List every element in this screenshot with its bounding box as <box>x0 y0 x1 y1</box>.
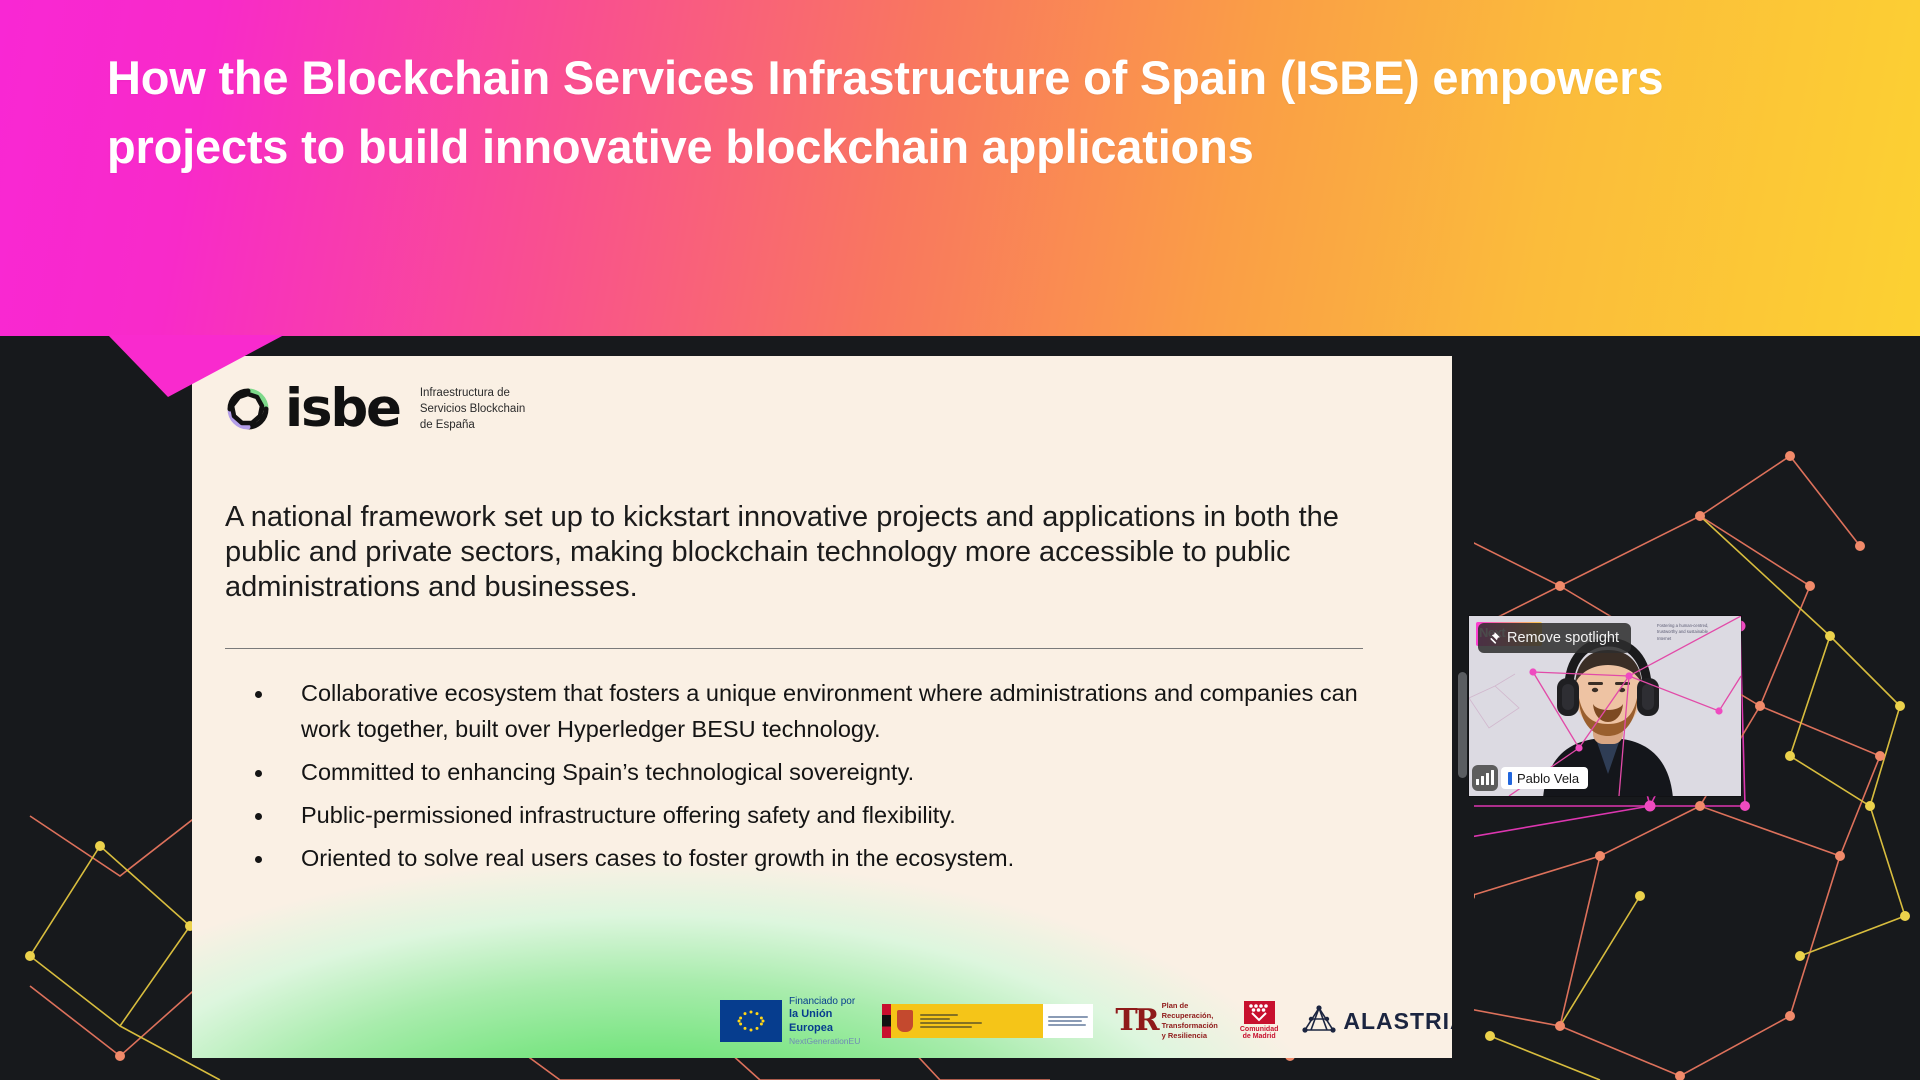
plan-line-3: Transformación <box>1162 1021 1218 1031</box>
divider <box>225 648 1363 649</box>
eu-funding-logo: Financiado por la Unión Europea NextGene… <box>720 1001 860 1041</box>
participant-video-tile[interactable]: Next Fostering a human-centred, trustwor… <box>1469 616 1741 796</box>
plan-line-2: Recuperación, <box>1162 1011 1218 1021</box>
list-item: Public-permissioned infrastructure offer… <box>225 798 1385 834</box>
participant-name: Pablo Vela <box>1517 771 1579 786</box>
gobierno-banner <box>891 1004 1043 1038</box>
eu-line-2: la Unión Europea <box>789 1008 860 1036</box>
remove-spotlight-button[interactable]: Remove spotlight <box>1478 623 1631 653</box>
pin-icon <box>1486 631 1501 646</box>
participant-name-badge: Pablo Vela <box>1501 767 1588 789</box>
plan-line-1: Plan de <box>1162 1001 1218 1011</box>
tr-monogram: TR <box>1115 1006 1156 1036</box>
alastria-triangle-icon <box>1300 1004 1338 1039</box>
spain-flag-stripe-icon <box>882 1004 891 1038</box>
isbe-wordmark: isbe <box>285 382 400 435</box>
isbe-logo: isbe Infraestructura de Servicios Blockc… <box>225 382 525 435</box>
eu-line-3: NextGenerationEU <box>789 1036 860 1047</box>
plan-text: Plan de Recuperación, Transformación y R… <box>1162 1001 1218 1042</box>
tagline-line-3: de España <box>420 418 525 434</box>
alastria-logo: ALASTRIA <box>1300 1001 1452 1041</box>
header-banner: How the Blockchain Services Infrastructu… <box>0 0 1920 336</box>
isbe-tagline: Infraestructura de Servicios Blockchain … <box>420 383 525 434</box>
spain-coat-of-arms-icon <box>897 1010 913 1032</box>
plan-de-recuperacion-logo: TR Plan de Recuperación, Transformación … <box>1115 1001 1218 1041</box>
page-title: How the Blockchain Services Infrastructu… <box>107 44 1827 181</box>
madrid-stars-icon <box>1244 1001 1275 1024</box>
list-item: Collaborative ecosystem that fosters a u… <box>225 676 1385 748</box>
remove-spotlight-label: Remove spotlight <box>1507 630 1619 646</box>
madrid-line-2: de Madrid <box>1240 1033 1279 1041</box>
gobierno-de-espana-logo <box>882 1004 1093 1038</box>
gobierno-text-lines <box>920 1014 982 1028</box>
comunidad-de-madrid-logo: Comunidad de Madrid <box>1240 1001 1279 1041</box>
list-item: Oriented to solve real users cases to fo… <box>225 841 1385 877</box>
slide-intro-paragraph: A national framework set up to kickstart… <box>225 500 1360 604</box>
presentation-slide: isbe Infraestructura de Servicios Blockc… <box>192 356 1452 1058</box>
list-item: Committed to enhancing Spain’s technolog… <box>225 755 1385 791</box>
slide-footer-logos: Financiado por la Unión Europea NextGene… <box>720 1000 1452 1042</box>
alastria-wordmark: ALASTRIA <box>1343 1008 1452 1035</box>
signal-bars-icon <box>1472 765 1498 791</box>
eu-line-1: Financiado por <box>789 996 860 1009</box>
tagline-line-2: Servicios Blockchain <box>420 402 525 418</box>
eu-flag-icon <box>720 1000 782 1042</box>
slide-bullet-list: Collaborative ecosystem that fosters a u… <box>225 676 1385 884</box>
tagline-line-1: Infraestructura de <box>420 386 525 402</box>
plan-line-4: y Resiliencia <box>1162 1031 1218 1041</box>
isbe-ring-icon <box>225 386 271 432</box>
scrollbar-thumb[interactable] <box>1458 672 1467 778</box>
madrid-caption: Comunidad de Madrid <box>1240 1026 1279 1041</box>
mic-level-indicator <box>1508 772 1512 785</box>
madrid-line-1: Comunidad <box>1240 1026 1279 1034</box>
ministerio-block <box>1043 1004 1093 1038</box>
presentation-viewer: How the Blockchain Services Infrastructu… <box>0 0 1920 1080</box>
